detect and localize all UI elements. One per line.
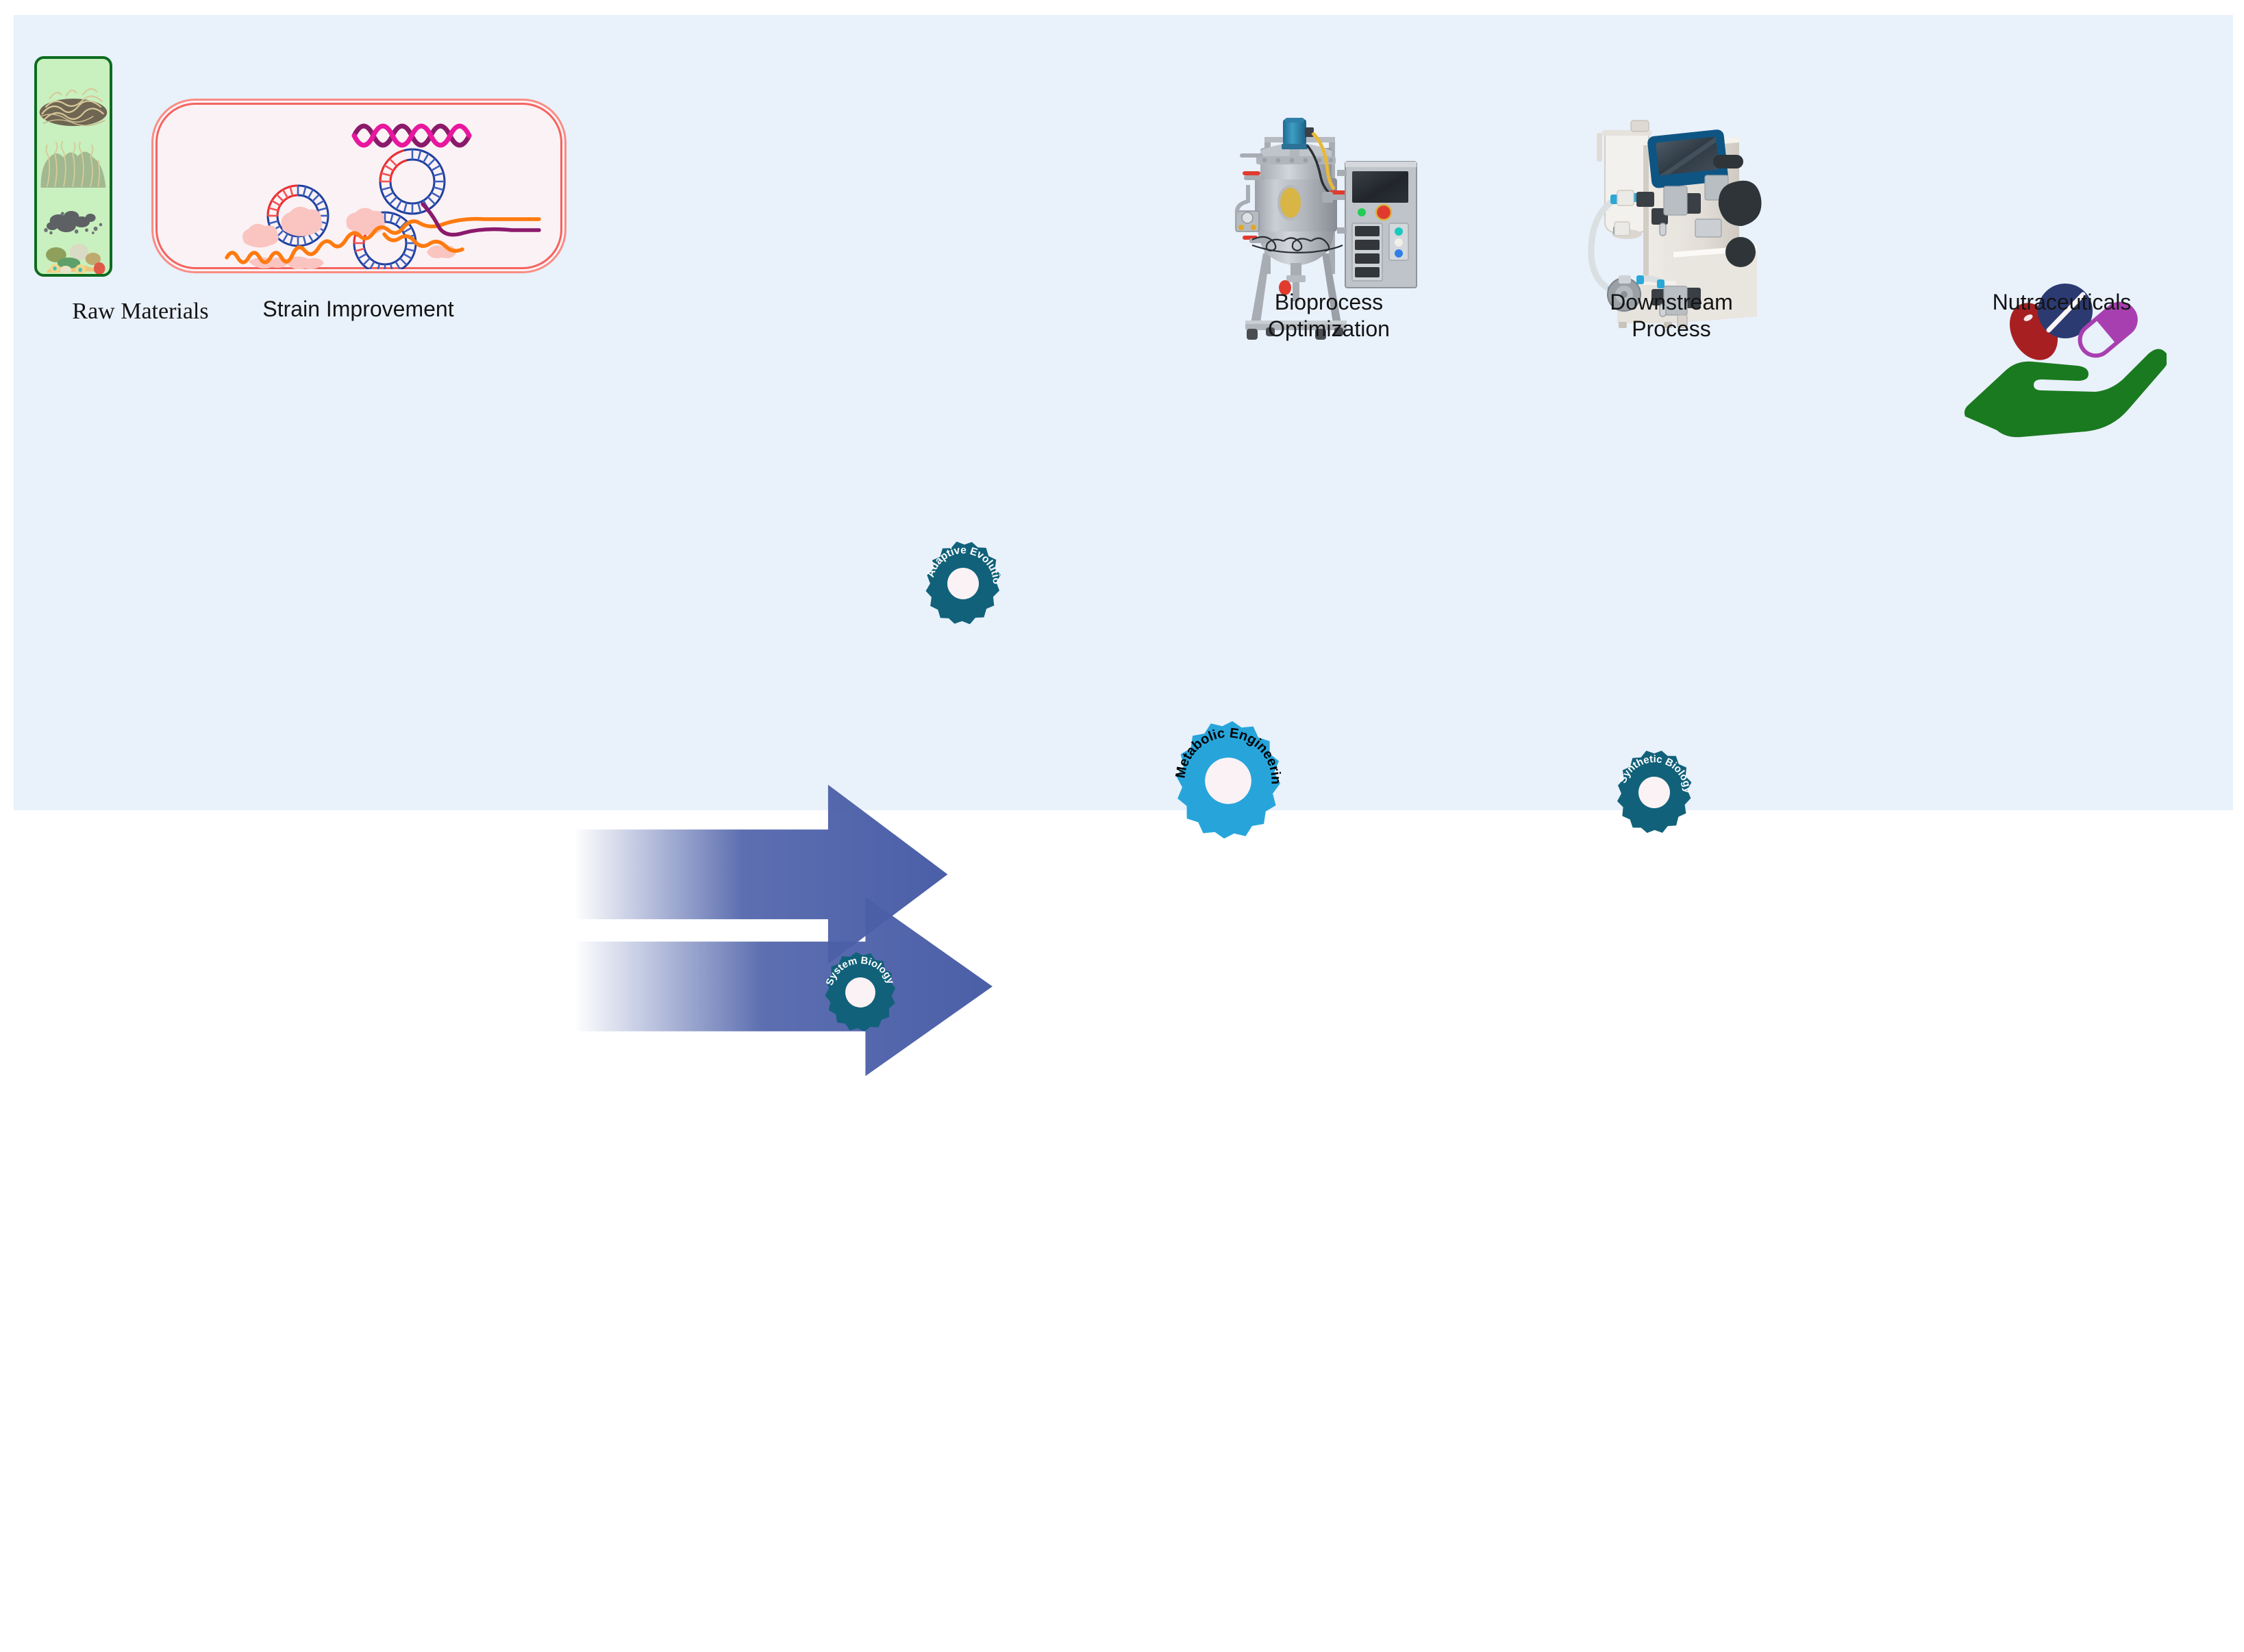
sight-glass [1279,186,1302,219]
bacterial-cell-outline [155,103,562,269]
dark-coal-compost [37,203,110,238]
indicator-light [1395,227,1403,236]
label-bioprocess-optimization: Bioprocess Optimization [1219,289,1438,342]
indicator-light [1395,249,1403,258]
green-agricultural-residue [37,140,110,189]
reservoir-cap [1631,121,1649,132]
gauge-knob [1251,225,1256,230]
metabolic-engineering-gear: Metabolic Engineering [1164,717,1860,1412]
label-nutraceuticals: Nutraceuticals [1925,289,2199,316]
straw-husk-biomass [37,74,110,127]
vegetable-food-waste [37,238,110,277]
panel-green-light [1358,208,1366,216]
gauge-knob [1238,225,1244,230]
open-hand [1965,349,2167,437]
agitator-motor [1283,119,1306,145]
label-strain-improvement: Strain Improvement [184,296,533,323]
diagram-canvas: Adaptive Evolution System Biology [14,15,2233,810]
label-downstream-process: Downstream Process [1562,289,1781,342]
indicator-light [1395,238,1403,247]
panel-screen [1352,171,1408,203]
raw-materials-panel [34,56,112,277]
panel-emergency-stop [1376,205,1391,220]
